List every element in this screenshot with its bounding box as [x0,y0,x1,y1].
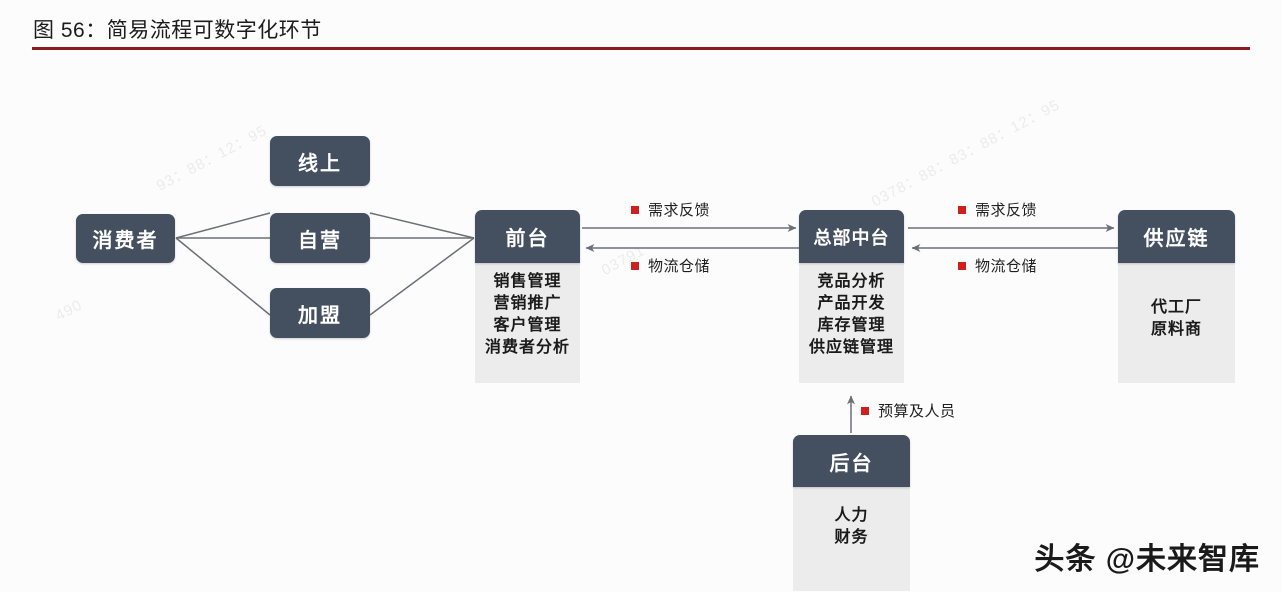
figure-page: 图 56：简易流程可数字化环节 93：88：12：95 0378：88：83：8… [0,0,1282,592]
list-item: 客户管理 [493,315,561,337]
bullet-square-icon [958,262,966,270]
node-front-office-items: 销售管理 营销推广 客户管理 消费者分析 [475,263,580,383]
list-item: 供应链管理 [809,337,894,359]
list-item: 财务 [834,527,868,549]
bullet-square-icon [861,407,869,415]
list-item: 人力 [834,505,868,527]
title-divider [32,47,1250,50]
node-online[interactable]: 线上 [270,136,370,186]
list-item: 消费者分析 [485,337,570,359]
node-consumer-label: 消费者 [93,224,159,253]
edge-label-mid-to-supply-demand: 需求反馈 [958,199,1037,220]
list-item: 营销推广 [493,293,561,315]
edge-label-text: 预算及人员 [878,400,956,421]
edge-label-mid-to-supply-logistics: 物流仓储 [958,255,1037,276]
node-supply-chain-title: 供应链 [1144,222,1210,251]
bullet-square-icon [631,262,639,270]
bullet-square-icon [958,206,966,214]
page-title: 图 56：简易流程可数字化环节 [33,14,322,44]
connector-lines [0,52,1282,592]
edge-label-front-to-mid-demand: 需求反馈 [631,199,710,220]
node-back-office-title: 后台 [830,447,874,476]
edge-label-text: 需求反馈 [975,199,1037,220]
node-self-operated[interactable]: 自营 [270,213,370,263]
node-franchise[interactable]: 加盟 [270,288,370,338]
list-item: 原料商 [1151,319,1202,341]
list-item: 代工厂 [1151,297,1202,319]
node-back-office-items: 人力 财务 [793,487,910,591]
node-consumer[interactable]: 消费者 [76,214,175,263]
node-mid-office[interactable]: 总部中台 竞品分析 产品开发 库存管理 供应链管理 [799,210,904,383]
list-item: 销售管理 [493,271,561,293]
edge-label-front-to-mid-logistics: 物流仓储 [631,255,710,276]
list-item: 产品开发 [817,293,885,315]
brand-watermark: 头条 @未来智库 [1034,534,1260,578]
flow-diagram: 93：88：12：95 0378：88：83：88：12：95 490 0379… [0,52,1282,592]
bullet-square-icon [631,206,639,214]
node-self-operated-label: 自营 [298,224,342,253]
node-back-office[interactable]: 后台 人力 财务 [793,435,910,591]
node-franchise-label: 加盟 [298,299,342,328]
node-front-office-title: 前台 [506,222,550,251]
node-front-office[interactable]: 前台 销售管理 营销推广 客户管理 消费者分析 [475,210,580,383]
node-online-label: 线上 [298,147,342,176]
node-supply-chain-items: 代工厂 原料商 [1118,263,1235,383]
edge-label-text: 物流仓储 [975,255,1037,276]
edge-label-text: 物流仓储 [648,255,710,276]
edge-label-back-to-mid-budget: 预算及人员 [861,400,956,421]
figure-header: 图 56：简易流程可数字化环节 [0,0,1282,52]
node-mid-office-items: 竞品分析 产品开发 库存管理 供应链管理 [799,263,904,383]
node-supply-chain[interactable]: 供应链 代工厂 原料商 [1118,210,1235,383]
list-item: 库存管理 [817,315,885,337]
edge-label-text: 需求反馈 [648,199,710,220]
list-item: 竞品分析 [817,271,885,293]
node-mid-office-title: 总部中台 [814,224,890,250]
